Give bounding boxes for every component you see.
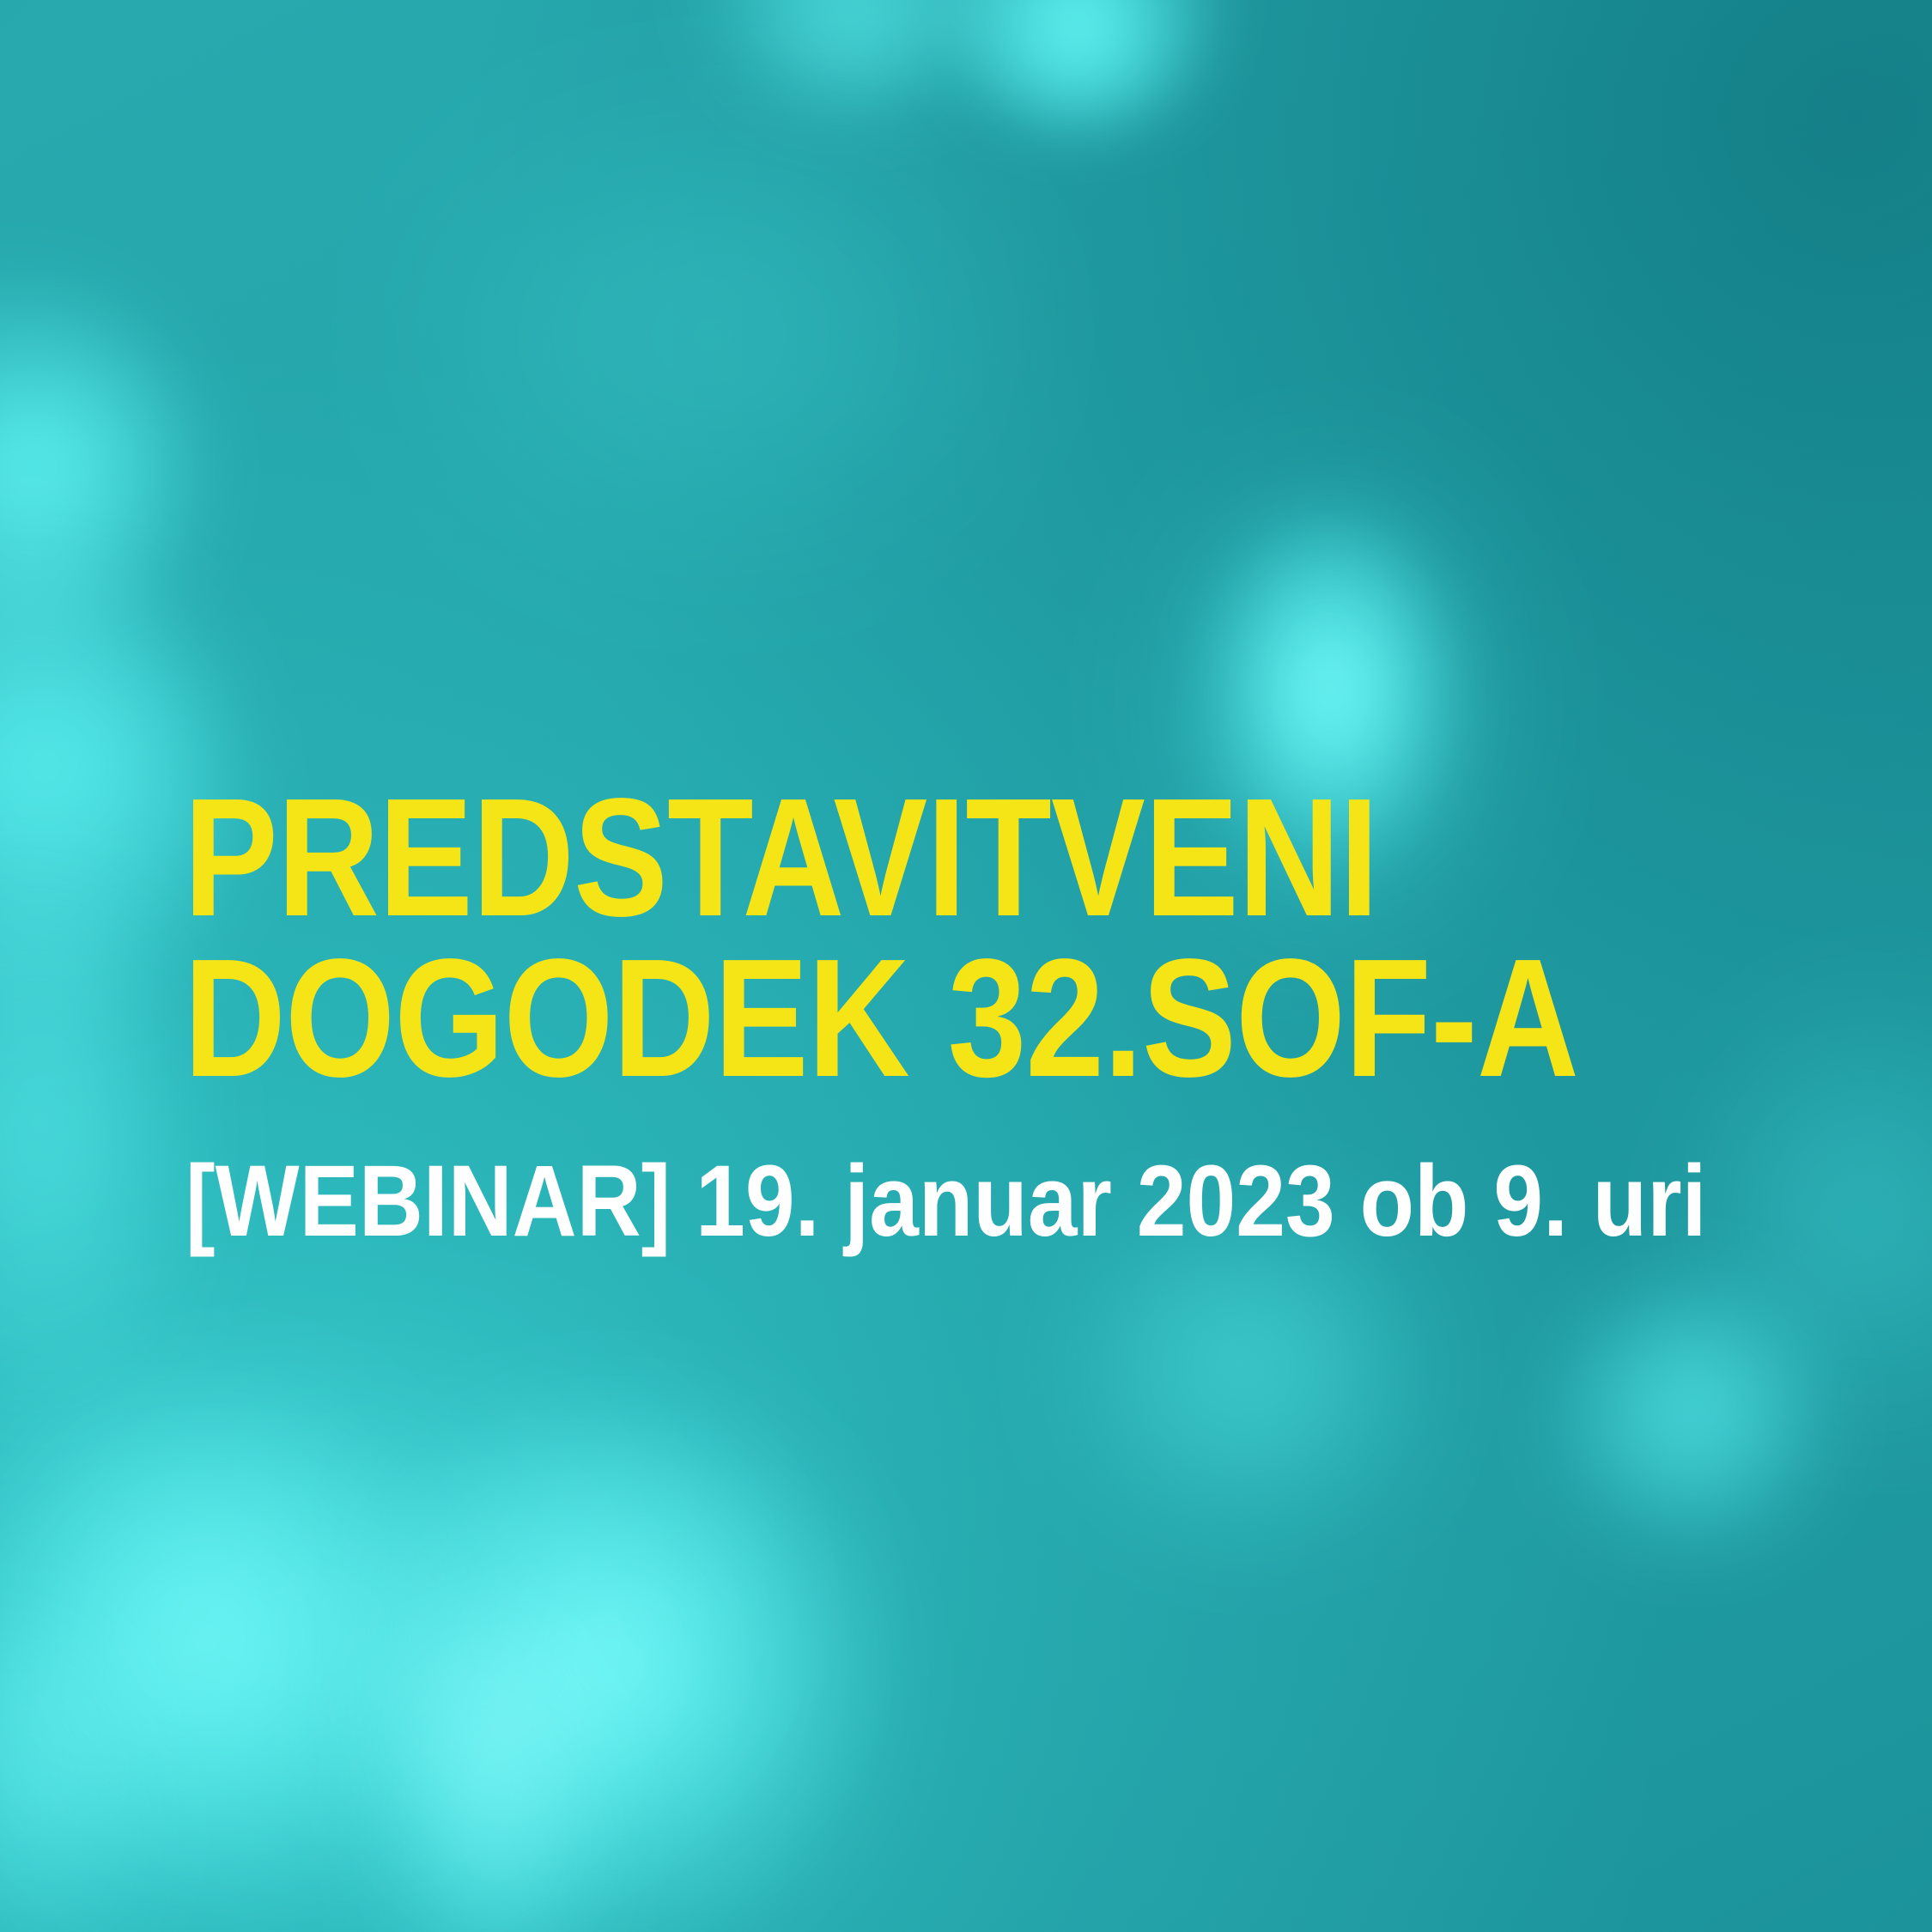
headline: PREDSTAVITVENI DOGODEK 32.SOF-A	[184, 777, 1815, 1098]
subtitle: [WEBINAR] 19. januar 2023 ob 9. uri	[185, 1145, 1706, 1258]
poster-canvas: PREDSTAVITVENI DOGODEK 32.SOF-A [WEBINAR…	[0, 0, 1932, 1932]
headline-line-2: DOGODEK 32.SOF-A	[184, 938, 1554, 1098]
headline-line-1: PREDSTAVITVENI	[184, 777, 1554, 938]
content-layer: PREDSTAVITVENI DOGODEK 32.SOF-A [WEBINAR…	[0, 0, 1932, 1932]
